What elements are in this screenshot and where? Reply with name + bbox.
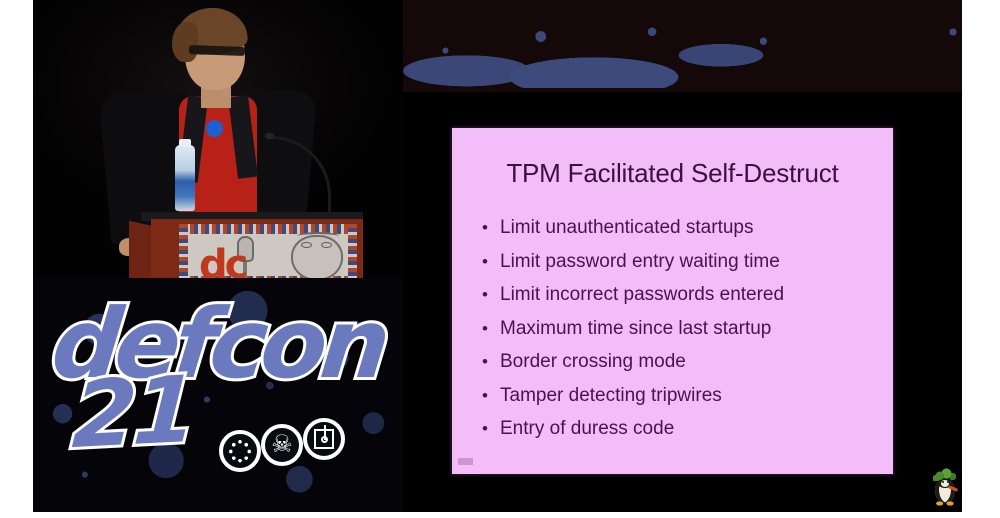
slide-bullet-item: Maximum time since last startup [482,312,893,346]
slide-bullet-item: Limit incorrect passwords entered [482,278,893,312]
rotary-dial-icon [219,430,261,472]
slide-bullet-item: Entry of duress code [482,412,893,446]
rotary-dial-holes [228,439,252,463]
banner-border-left [179,224,188,285]
video-frame: dc defcon 21 ☠ [33,0,962,512]
banner-wordmark: dc [199,250,245,280]
slide-bullet-item: Limit password entry waiting time [482,245,893,279]
banner-face-brow [297,232,339,241]
radar-center-dot [321,436,328,443]
speaker-camera-panel: dc [33,0,403,285]
penguin-mascot-watermark [929,468,961,508]
speaker-glasses [189,45,245,56]
mascot-foliage-headdress [933,468,957,481]
slide-bullet-list: Limit unauthenticated startups Limit pas… [482,211,893,446]
screen-root: dc defcon 21 ☠ [0,0,1000,518]
slide-bullet-item: Limit unauthenticated startups [482,211,893,245]
slide-bullet-item: Border crossing mode [482,345,893,379]
splatter-shape-tail [923,14,962,74]
water-bottle-cap [179,139,191,147]
slide-area: TPM Facilitated Self-Destruct Limit unau… [403,92,962,512]
water-bottle [175,145,195,211]
skull-crossbones-glyph: ☠ [265,428,299,462]
speaker-hair-side [172,22,198,62]
skull-crossbones-icon: ☠ [261,424,303,466]
mascot-eye-right [947,481,949,483]
banner-border-right [348,224,357,285]
mascot-feet [936,501,954,506]
conference-badge [206,120,223,137]
defcon-wordmark-line2: 21 [70,367,195,459]
slide-bullet-item: Tamper detecting tripwires [482,379,893,413]
defcon-logo-panel: defcon 21 ☠ [33,278,403,512]
slide-title: TPM Facilitated Self-Destruct [452,158,893,189]
podium-microphone-head [265,133,274,139]
podium-banner: dc [179,224,357,285]
splatter-banner [403,0,962,92]
defcon-wordmark: defcon 21 ☠ [47,296,387,466]
banner-face-eye-right [321,242,332,248]
radar-icon [303,418,345,460]
presentation-slide: TPM Facilitated Self-Destruct Limit unau… [452,128,893,474]
splatter-shape-main [403,10,933,88]
banner-face-illustration [291,235,343,281]
banner-face-eye-left [301,242,312,248]
mascot-eye-left [942,481,944,483]
slide-corner-artifact [458,458,473,465]
